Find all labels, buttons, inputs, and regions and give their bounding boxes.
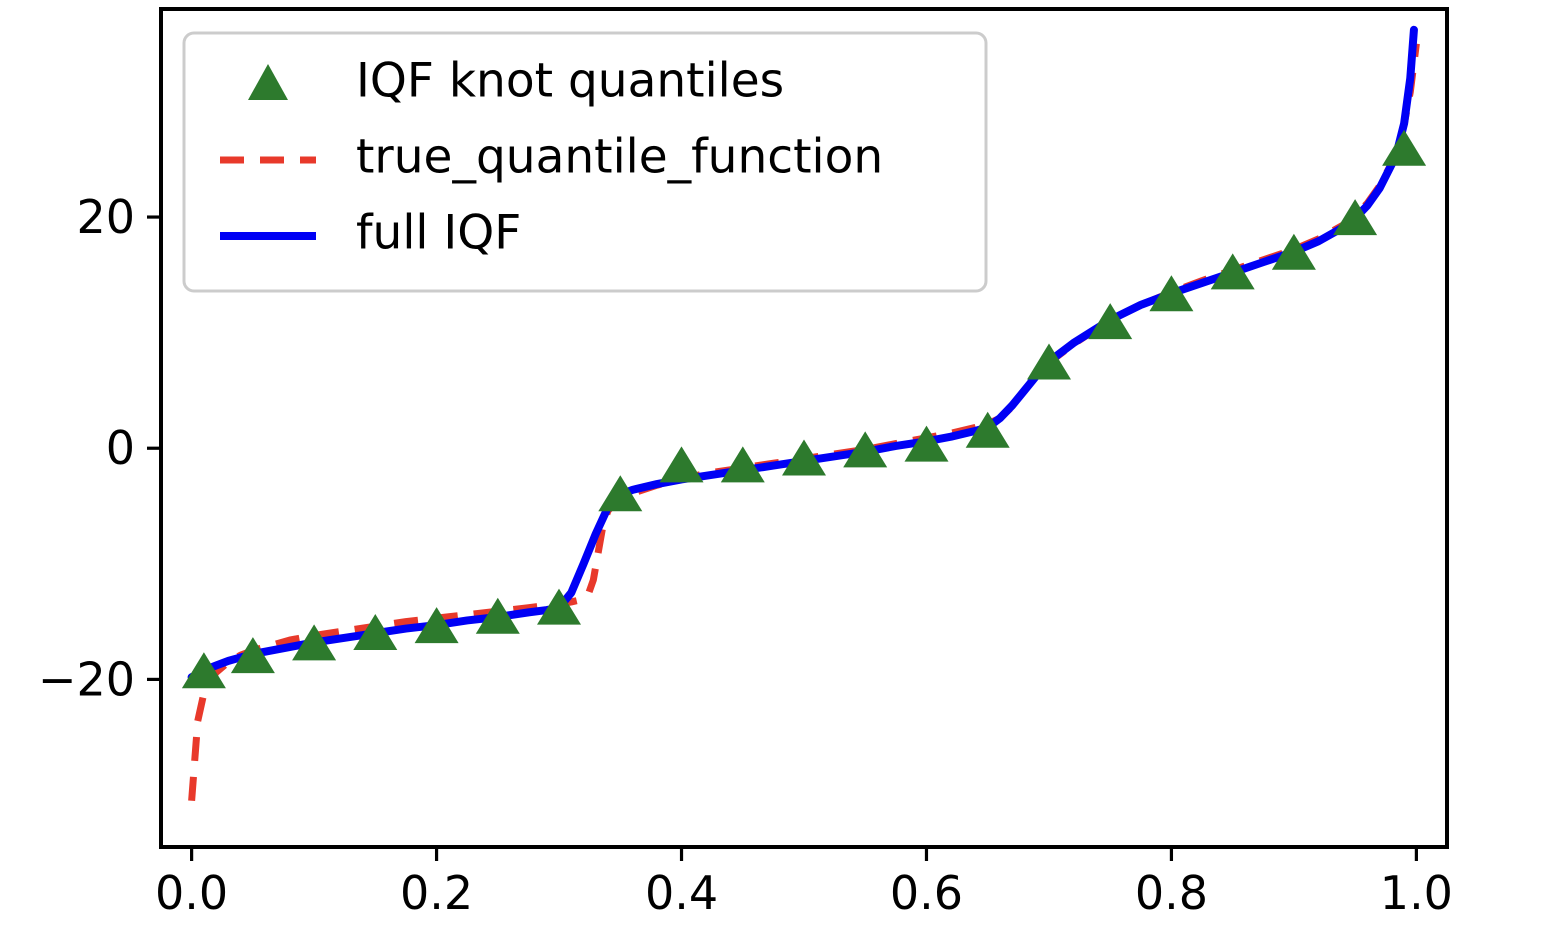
- x-tick-label: 0.4: [645, 866, 718, 920]
- y-axis-ticks: 200−20: [38, 190, 161, 706]
- y-tick-label: 0: [106, 421, 135, 475]
- legend: IQF knot quantiles true_quantile_functio…: [184, 33, 986, 291]
- knot-marker: [660, 446, 704, 482]
- knot-marker: [598, 475, 642, 511]
- knot-marker: [1149, 275, 1193, 311]
- x-tick-label: 1.0: [1380, 866, 1453, 920]
- figure-canvas: 0.00.20.40.60.81.0 200−20 IQF knot quant…: [0, 0, 1556, 936]
- y-tick-label: 20: [76, 190, 135, 244]
- x-tick-label: 0.8: [1135, 866, 1208, 920]
- legend-label-true-quantile: true_quantile_function: [356, 130, 883, 185]
- legend-label-knots: IQF knot quantiles: [356, 54, 784, 109]
- y-tick-label: −20: [38, 652, 135, 706]
- x-tick-label: 0.2: [400, 866, 473, 920]
- knot-marker: [1382, 130, 1426, 166]
- x-tick-label: 0.6: [890, 866, 963, 920]
- x-axis-ticks: 0.00.20.40.60.81.0: [155, 847, 1453, 920]
- x-tick-label: 0.0: [155, 866, 228, 920]
- quantile-function-plot: 0.00.20.40.60.81.0 200−20 IQF knot quant…: [0, 0, 1556, 936]
- legend-label-full-iqf: full IQF: [356, 206, 521, 261]
